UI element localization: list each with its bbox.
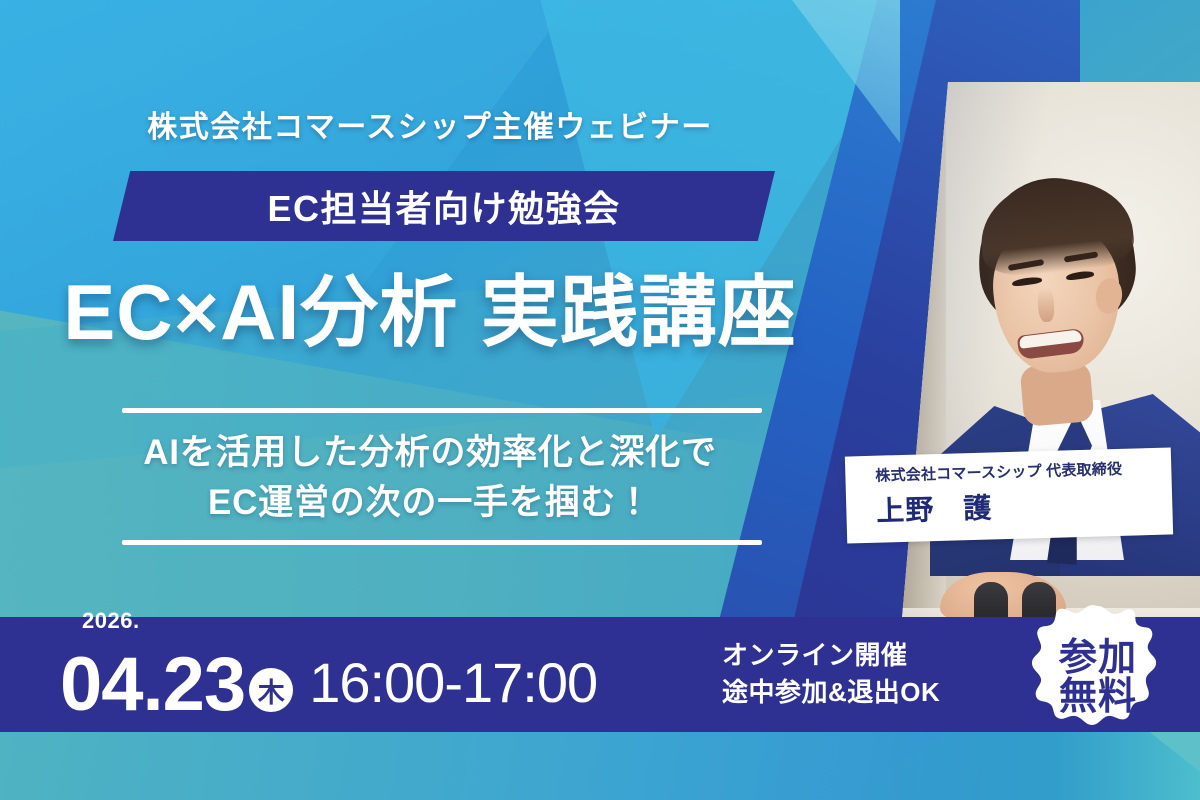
free-badge-line-2: 無料 [1059, 678, 1137, 717]
ribbon-banner: EC担当者向け勉強会 [113, 171, 775, 241]
ribbon-label: EC担当者向け勉強会 [267, 180, 620, 232]
host-eyebrow-text: 株式会社コマースシップ主催ウェビナー [0, 102, 860, 146]
event-year: 2026. [82, 608, 140, 634]
speaker-company-title: 株式会社コマースシップ 代表取締役 [875, 456, 1171, 485]
subtitle: AIを活用した分析の効率化と深化で EC運営の次の一手を掴む！ [0, 428, 860, 527]
event-time: 16:00-17:00 [309, 655, 597, 711]
subtitle-line-1: AIを活用した分析の効率化と深化で [0, 428, 860, 478]
divider-top [122, 408, 762, 413]
speaker-name-plate: 株式会社コマースシップ 代表取締役 上野 護 [845, 447, 1173, 543]
bottom-strip [0, 732, 1200, 800]
free-badge-text: 参加 無料 [1059, 639, 1137, 717]
webinar-banner: 株式会社コマースシップ 代表取締役 上野 護 株式会社コマースシップ主催ウェビナ… [0, 0, 1200, 800]
event-info: オンライン開催 途中参加&退出OK [722, 637, 940, 710]
event-date: 04.23 [60, 650, 245, 720]
free-participation-badge: 参加 無料 [1024, 604, 1172, 752]
speaker-name: 上野 護 [876, 481, 1173, 529]
speaker-photo [900, 82, 1200, 642]
speaker-photo-content [900, 82, 1200, 642]
subtitle-line-2: EC運営の次の一手を掴む！ [0, 478, 860, 528]
main-content: 株式会社コマースシップ主催ウェビナー EC担当者向け勉強会 EC×AI分析 実践… [0, 0, 860, 620]
page-title: EC×AI分析 実践講座 [0, 272, 860, 354]
free-badge-line-1: 参加 [1059, 639, 1137, 678]
photo-shading-overlay [900, 82, 1200, 642]
event-info-line-1: オンライン開催 [722, 637, 940, 673]
event-info-line-2: 途中参加&退出OK [722, 674, 940, 710]
day-of-week-badge: 木 [249, 668, 293, 712]
divider-bottom [122, 540, 762, 545]
schedule-bar: 2026. 04.23 木 16:00-17:00 オンライン開催 途中参加&退… [0, 617, 1200, 732]
date-block: 2026. 04.23 木 16:00-17:00 [60, 650, 597, 720]
